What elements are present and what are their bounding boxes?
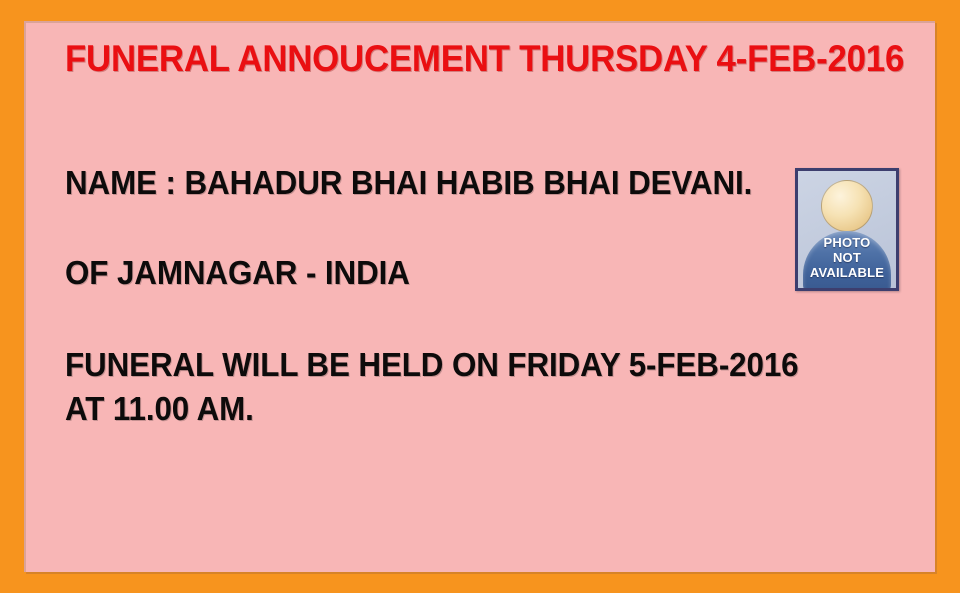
photo-caption-line-1: PHOTO — [798, 235, 896, 250]
photo-caption-line-3: AVAILABLE — [798, 265, 896, 280]
photo-not-available-caption: PHOTO NOT AVAILABLE — [798, 235, 896, 280]
deceased-name-line: NAME : BAHADUR BHAI HABIB BHAI DEVANI. — [65, 163, 787, 203]
photo-caption-line-2: NOT — [798, 250, 896, 265]
announcement-card: FUNERAL ANNOUCEMENT THURSDAY 4-FEB-2016 … — [24, 21, 935, 572]
funeral-announcement-poster: FUNERAL ANNOUCEMENT THURSDAY 4-FEB-2016 … — [0, 0, 960, 593]
page-title: FUNERAL ANNOUCEMENT THURSDAY 4-FEB-2016 — [65, 37, 904, 81]
photo-placeholder: PHOTO NOT AVAILABLE — [795, 168, 899, 291]
announcement-body: NAME : BAHADUR BHAI HABIB BHAI DEVANI. O… — [65, 163, 825, 429]
funeral-date-line: FUNERAL WILL BE HELD ON FRIDAY 5-FEB-201… — [65, 345, 787, 385]
funeral-time-line: AT 11.00 AM. — [65, 389, 787, 429]
place-line: OF JAMNAGAR - INDIA — [65, 253, 787, 293]
avatar-head-icon — [821, 180, 873, 232]
